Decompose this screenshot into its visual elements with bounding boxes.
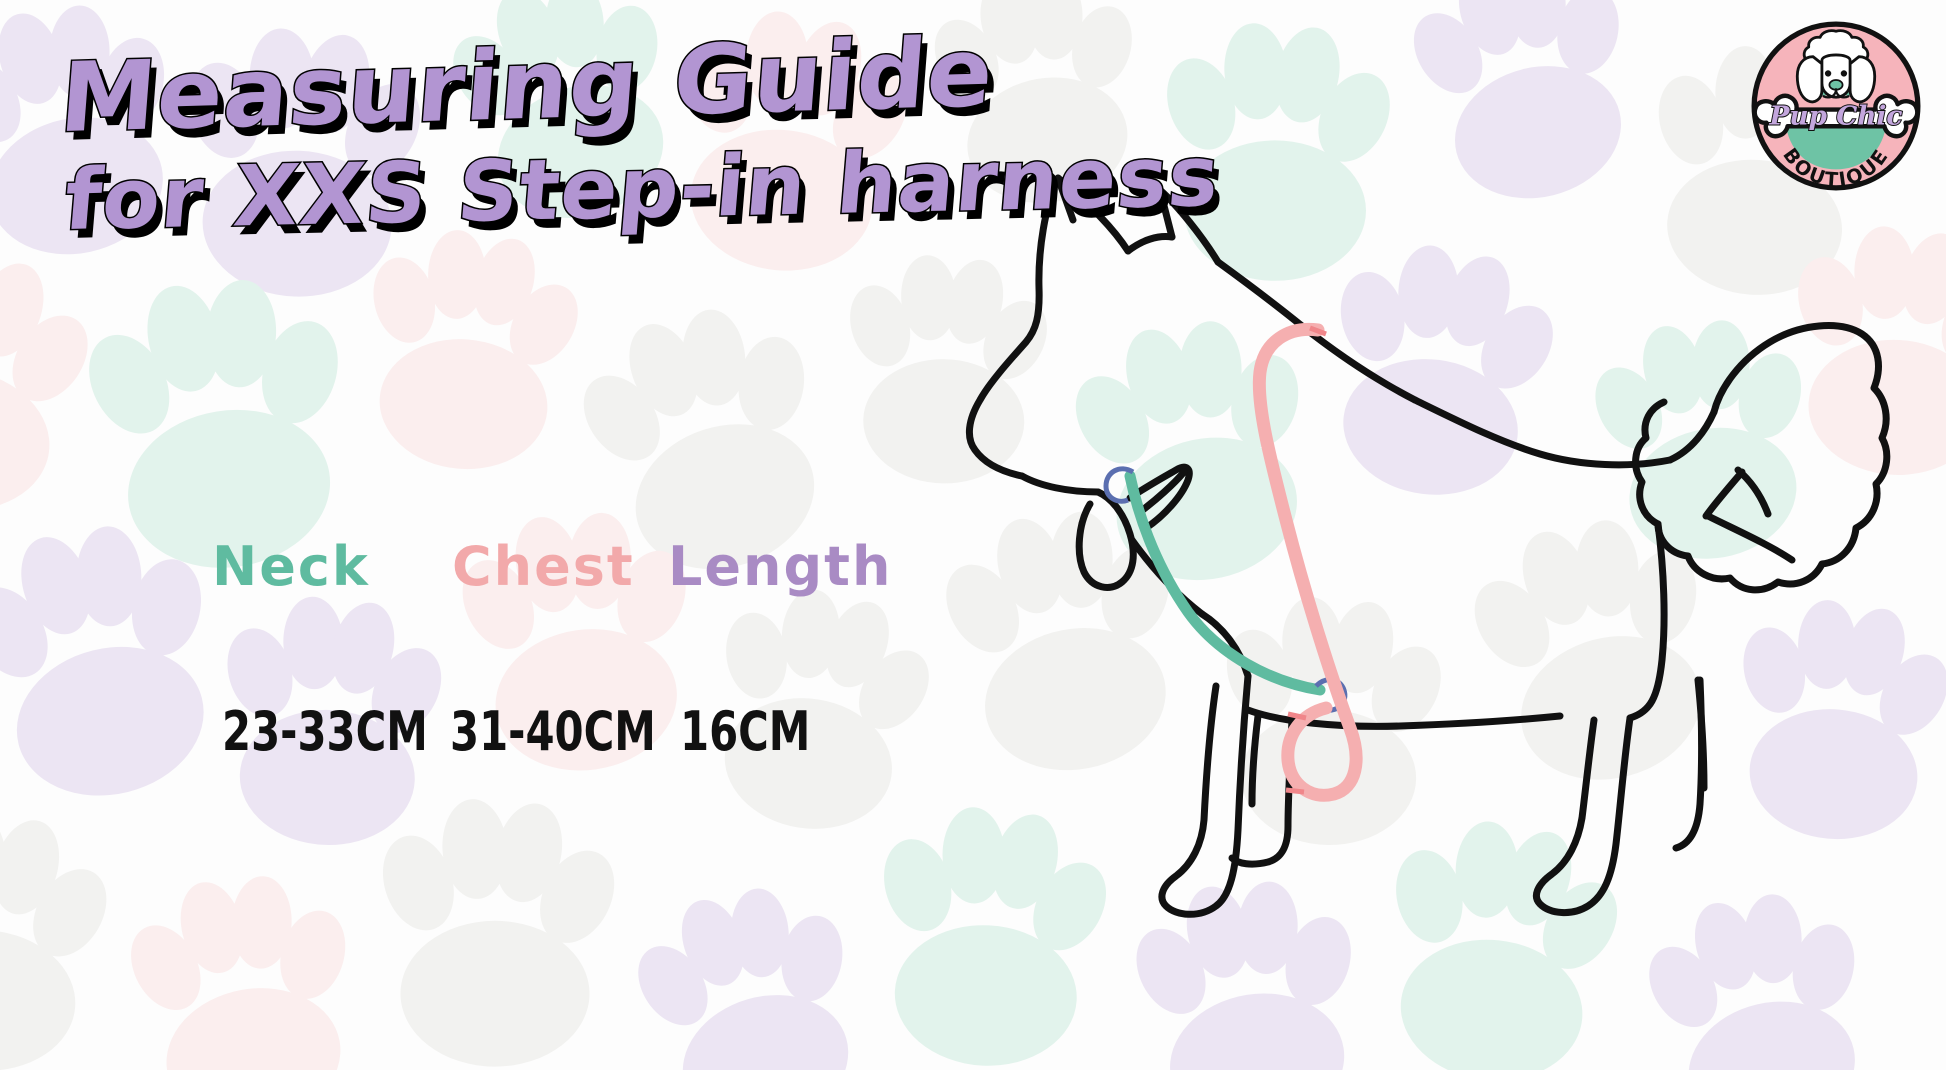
logo-brand-script: Pup Chic — [1769, 100, 1903, 131]
title-line-1: Measuring Guide — [57, 18, 1224, 148]
measuring-guide-canvas: Measuring Guide for XXS Step-in harness … — [0, 0, 1946, 1070]
poodle-eye-right — [1841, 70, 1847, 76]
measurement-value-chest: 31-40CM — [450, 700, 656, 763]
title-line-2: for XXS Step-in harness — [61, 134, 1223, 244]
dog-outline-illustration — [840, 120, 1900, 920]
measurement-value-neck: 23-33CM — [222, 700, 428, 763]
measurement-label-chest: Chest — [452, 535, 635, 598]
measurement-value-length: 16CM — [680, 700, 810, 763]
measurement-label-length: Length — [668, 535, 892, 598]
pup-chic-boutique-logo[interactable]: Pup Chic BOUTIQUE — [1748, 18, 1924, 194]
measurement-label-neck: Neck — [212, 535, 370, 598]
page-title: Measuring Guide for XXS Step-in harness — [62, 34, 1218, 232]
poodle-eye-left — [1825, 70, 1831, 76]
